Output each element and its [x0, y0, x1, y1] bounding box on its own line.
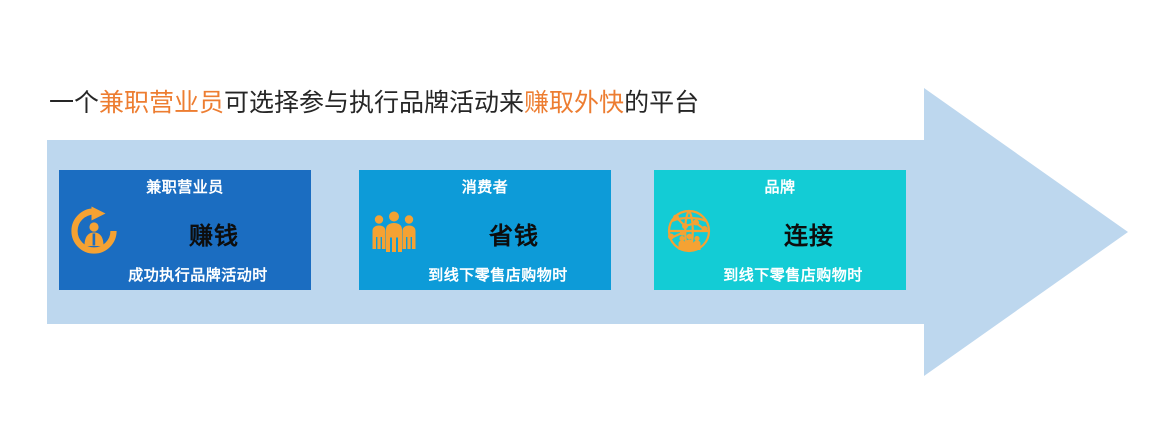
- card-part-time-clerk[interactable]: 兼职营业员 赚钱 成功执行品牌活动时: [59, 170, 311, 290]
- headline-middle: 可选择参与执行品牌活动来: [224, 90, 524, 117]
- card-footer-label: 成功执行品牌活动时: [85, 264, 311, 285]
- card-header-label: 消费者: [359, 176, 611, 197]
- globe-network-people-icon: [662, 204, 716, 258]
- person-circular-arrow-icon: [67, 204, 121, 258]
- slide-canvas: 一个兼职营业员可选择参与执行品牌活动来赚取外快的平台 兼职营业员 赚钱 成功执行…: [0, 0, 1150, 430]
- headline-prefix: 一个: [49, 90, 99, 117]
- card-main-label: 连接: [712, 216, 906, 251]
- card-header-label: 品牌: [654, 176, 906, 197]
- card-consumer[interactable]: 消费者 省钱 到线下零售店购物时: [359, 170, 611, 290]
- page-title: 一个兼职营业员可选择参与执行品牌活动来赚取外快的平台: [49, 87, 699, 121]
- card-main-label: 省钱: [417, 216, 611, 251]
- headline-highlight-benefit: 赚取外快: [524, 90, 624, 117]
- card-footer-label: 到线下零售店购物时: [680, 264, 906, 285]
- card-brand[interactable]: 品牌: [654, 170, 906, 290]
- card-header-label: 兼职营业员: [59, 176, 311, 197]
- group-of-people-icon: [367, 204, 421, 258]
- headline-highlight-role: 兼职营业员: [99, 90, 224, 117]
- card-main-label: 赚钱: [117, 216, 311, 251]
- headline-suffix: 的平台: [624, 90, 699, 117]
- card-footer-label: 到线下零售店购物时: [385, 264, 611, 285]
